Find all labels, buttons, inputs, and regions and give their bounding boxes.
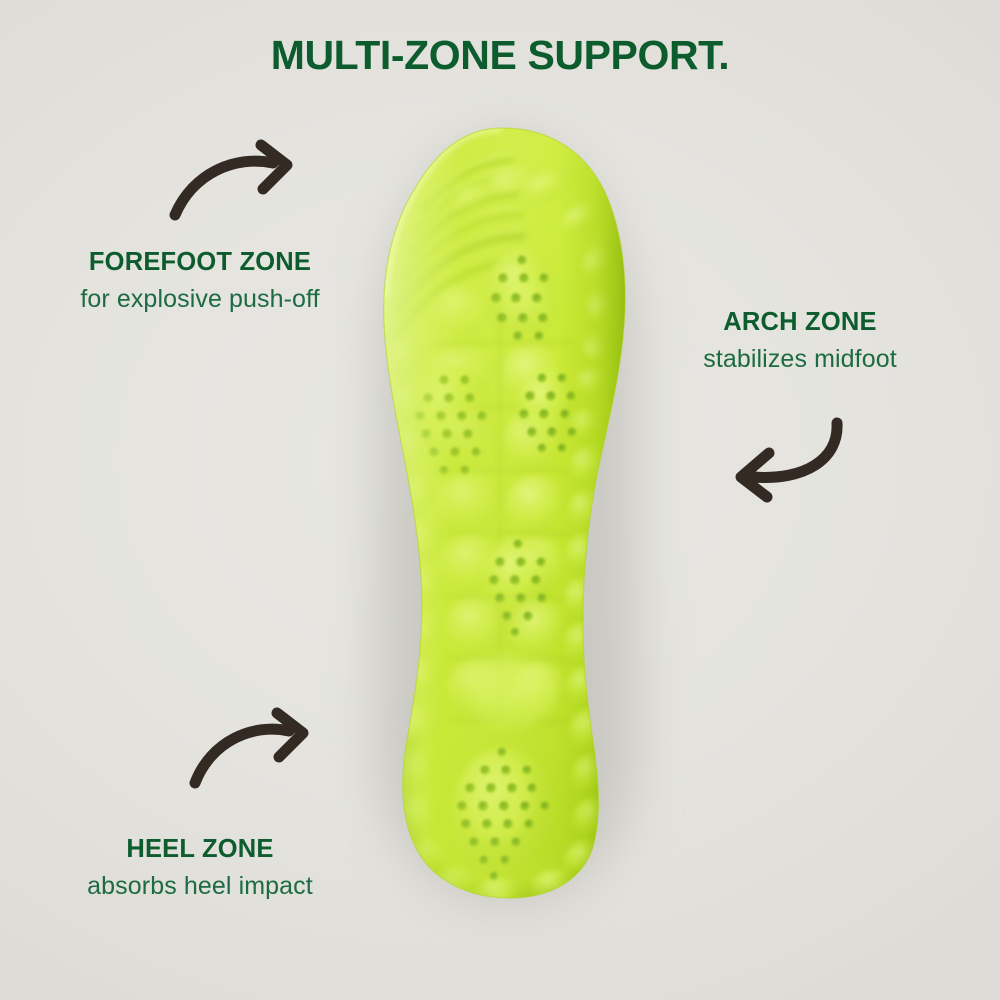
insole-product-image	[352, 112, 652, 902]
infographic-canvas: MULTI-ZONE SUPPORT.	[0, 0, 1000, 1000]
zone-name-forefoot: FOREFOOT ZONE	[0, 248, 400, 276]
zone-description-arch: stabilizes midfoot	[600, 343, 1000, 377]
curved-arrow-left-icon	[725, 415, 847, 503]
callout-forefoot: FOREFOOT ZONE for explosive push-off	[0, 248, 400, 317]
curved-arrow-right-icon	[185, 703, 325, 793]
curved-arrow-right-icon	[165, 133, 310, 225]
zone-description-heel: absorbs heel impact	[0, 870, 400, 904]
zone-name-arch: ARCH ZONE	[600, 308, 1000, 336]
callout-heel: HEEL ZONE absorbs heel impact	[0, 835, 400, 904]
page-title: MULTI-ZONE SUPPORT.	[0, 32, 1000, 79]
zone-name-heel: HEEL ZONE	[0, 835, 400, 863]
zone-description-forefoot: for explosive push-off	[0, 283, 400, 317]
callout-arch: ARCH ZONE stabilizes midfoot	[600, 308, 1000, 377]
insole-illustration	[352, 112, 652, 902]
